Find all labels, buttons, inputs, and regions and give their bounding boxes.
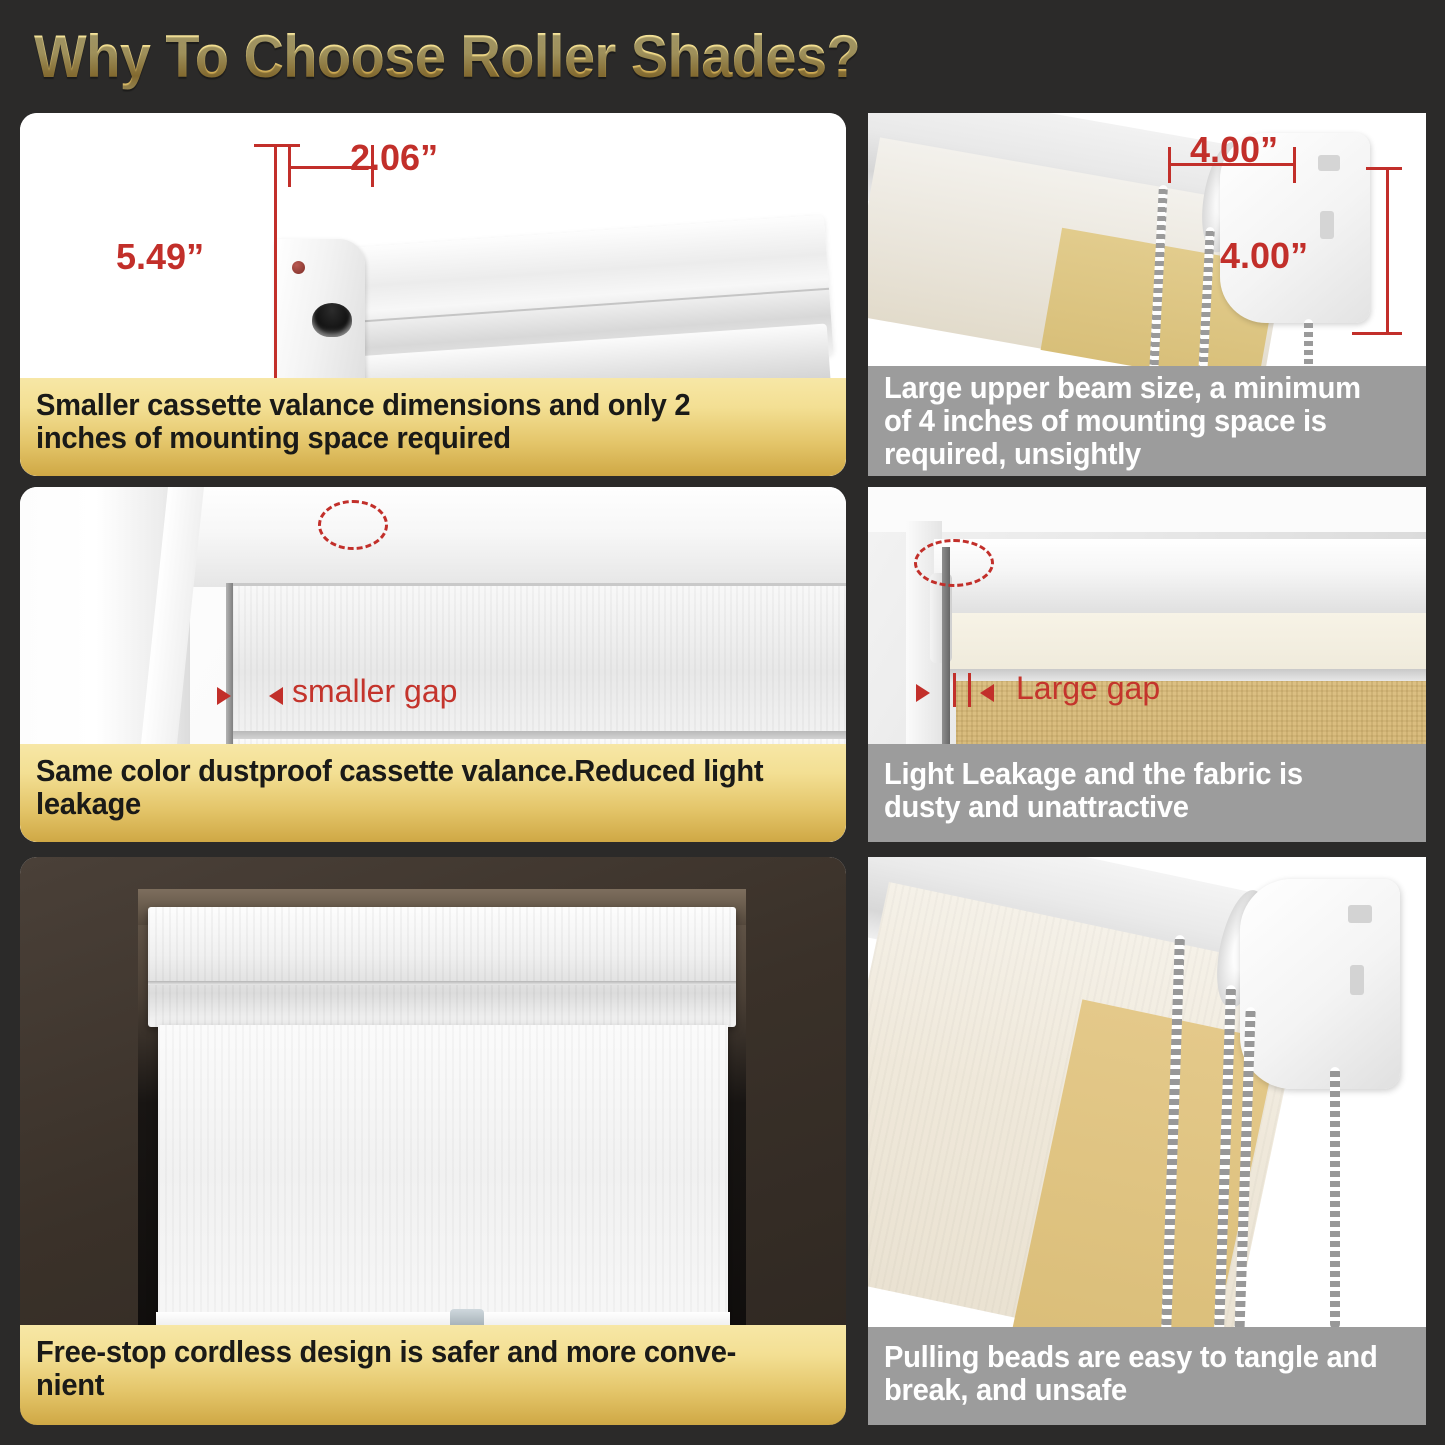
beam-width-dim-text: 4.00” [1190, 129, 1278, 171]
valance-screw-dot [292, 261, 305, 274]
panel-light-leakage: Large gap Light Leakage and the fabric i… [868, 487, 1426, 842]
panel-caption: Light Leakage and the fabric is dusty an… [868, 744, 1426, 842]
panel-cordless-design: Free-stop cordless design is safer and m… [20, 857, 846, 1425]
panel-caption-text: Light Leakage and the fabric is dusty an… [884, 758, 1378, 824]
gap-arrow-right [980, 684, 994, 702]
panel-large-upper-beam: 4.00” 4.00” Large upper beam size, a min… [868, 113, 1426, 476]
width-dim-text: 2.06” [350, 137, 438, 179]
beam-width-tick-left [1168, 147, 1171, 183]
gap-tick-1 [953, 673, 956, 707]
panel-caption: Free-stop cordless design is safer and m… [20, 1325, 846, 1425]
beam-height-dim-text: 4.00” [1220, 235, 1308, 277]
height-dim-line [274, 144, 277, 414]
beam-height-tick-bottom [1352, 332, 1402, 335]
panel-caption-text: Smaller cassette valance dimensions and … [36, 389, 782, 455]
beam-width-tick-right [1293, 147, 1296, 183]
roller-shade-fabric [158, 1025, 728, 1325]
cassette-valance [148, 907, 736, 1027]
gap-label: Large gap [1016, 670, 1160, 707]
highlight-ellipse [914, 539, 994, 587]
panel-pulling-beads: Pulling beads are easy to tangle and bre… [868, 857, 1426, 1425]
beam-height-tick-top [1366, 167, 1402, 170]
gap-tick-2 [968, 673, 971, 707]
panel-caption-text: Pulling beads are easy to tangle and bre… [884, 1341, 1378, 1407]
page-title: Why To Choose Roller Shades? [34, 22, 860, 91]
highlight-ellipse [318, 500, 388, 550]
valance-slot [312, 303, 352, 337]
height-dim-text: 5.49” [116, 236, 204, 278]
width-dim-tick-left [288, 145, 291, 187]
panel-cassette-dimensions: 2.06” 5.49” Smaller cassette valance dim… [20, 113, 846, 476]
beam-bracket [1240, 879, 1400, 1089]
beam-height-dim-line [1386, 167, 1389, 335]
gap-arrow-right [269, 687, 283, 705]
panel-caption: Pulling beads are easy to tangle and bre… [868, 1327, 1426, 1425]
bead-chain-4 [1330, 1067, 1340, 1329]
panel-caption: Same color dustproof cassette valance.Re… [20, 744, 846, 842]
panel-dustproof-cassette: smaller gap Same color dustproof cassett… [20, 487, 846, 842]
gap-arrow-left [916, 684, 930, 702]
panel-caption: Large upper beam size, a minimum of 4 in… [868, 366, 1426, 476]
panel-caption-text: Free-stop cordless design is safer and m… [36, 1336, 782, 1402]
panel-caption-text: Large upper beam size, a minimum of 4 in… [884, 372, 1378, 471]
infographic-root: Why To Choose Roller Shades? 2.06” 5.49”… [0, 0, 1445, 1445]
panel-caption: Smaller cassette valance dimensions and … [20, 378, 846, 476]
height-dim-tick-top [254, 144, 300, 147]
gap-label: smaller gap [292, 673, 457, 710]
panel-caption-text: Same color dustproof cassette valance.Re… [36, 755, 782, 821]
gap-arrow-left [217, 687, 231, 705]
